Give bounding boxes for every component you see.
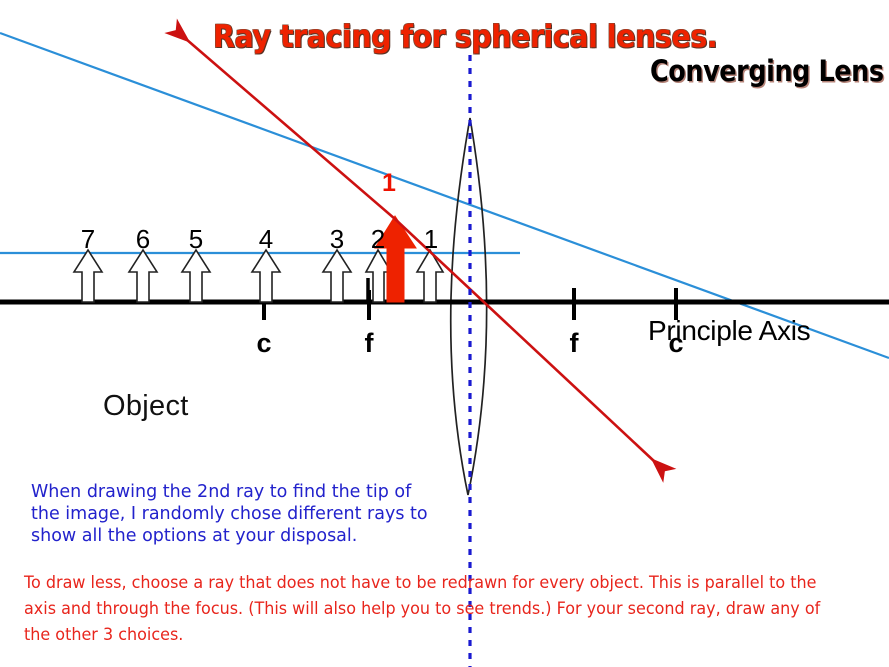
blue-annotation-note: When drawing the 2nd ray to find the tip… xyxy=(31,481,461,547)
object-arrow-3 xyxy=(323,250,351,302)
tick-label-f-right: f xyxy=(570,330,579,357)
page-title: Ray tracing for spherical lenses. xyxy=(213,22,717,53)
red-ray-label: 1 xyxy=(382,171,396,196)
object-number-5: 5 xyxy=(189,226,203,252)
object-number-6: 6 xyxy=(136,226,150,252)
object-arrow-7 xyxy=(74,250,102,302)
red-ray-segment-lower xyxy=(395,219,655,462)
ray-tracing-diagram: Ray tracing for spherical lenses. Conver… xyxy=(0,0,889,667)
tick-label-f-left: f xyxy=(365,330,374,357)
red-ray-segment-upper xyxy=(186,39,395,219)
object-number-3: 3 xyxy=(330,226,344,252)
principle-axis-label: Principle Axis xyxy=(648,317,810,345)
red-annotation-note: To draw less, choose a ray that does not… xyxy=(24,570,828,648)
object-label: Object xyxy=(103,392,189,421)
tick-label-c-left: c xyxy=(256,330,271,357)
object-number-1: 1 xyxy=(424,226,438,252)
object-number-7: 7 xyxy=(81,226,95,252)
object-number-4: 4 xyxy=(259,226,273,252)
object-arrow-4 xyxy=(252,250,280,302)
object-arrow-1 xyxy=(417,250,443,302)
object-number-2: 2 xyxy=(371,226,385,252)
object-arrow-5 xyxy=(182,250,210,302)
object-arrow-6 xyxy=(129,250,157,302)
lens-type-label: Converging Lens xyxy=(650,57,884,86)
